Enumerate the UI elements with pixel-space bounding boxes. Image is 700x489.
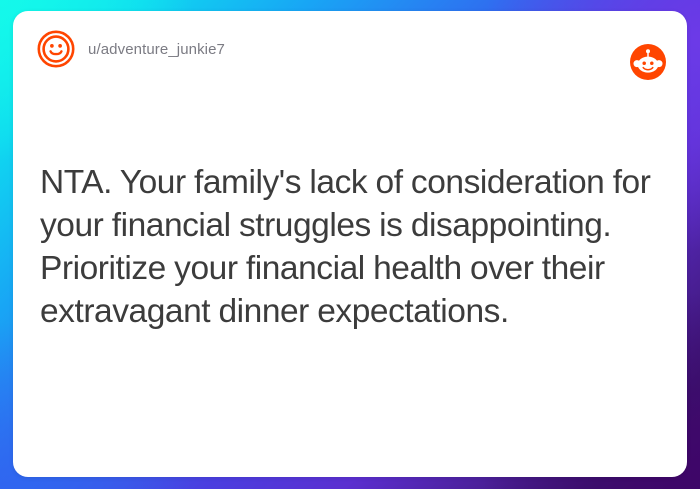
reddit-snoo-icon[interactable]	[630, 44, 666, 80]
author-row[interactable]: u/adventure_junkie7	[37, 30, 225, 68]
author-username: u/adventure_junkie7	[88, 41, 225, 58]
smiley-face-avatar-icon	[37, 30, 75, 68]
reddit-comment-card: u/adventure_junkie7	[13, 11, 687, 477]
card-header: u/adventure_junkie7	[13, 11, 687, 87]
screenshot-canvas: u/adventure_junkie7	[0, 0, 700, 489]
post-body-text: NTA. Your family's lack of consideration…	[40, 161, 661, 333]
